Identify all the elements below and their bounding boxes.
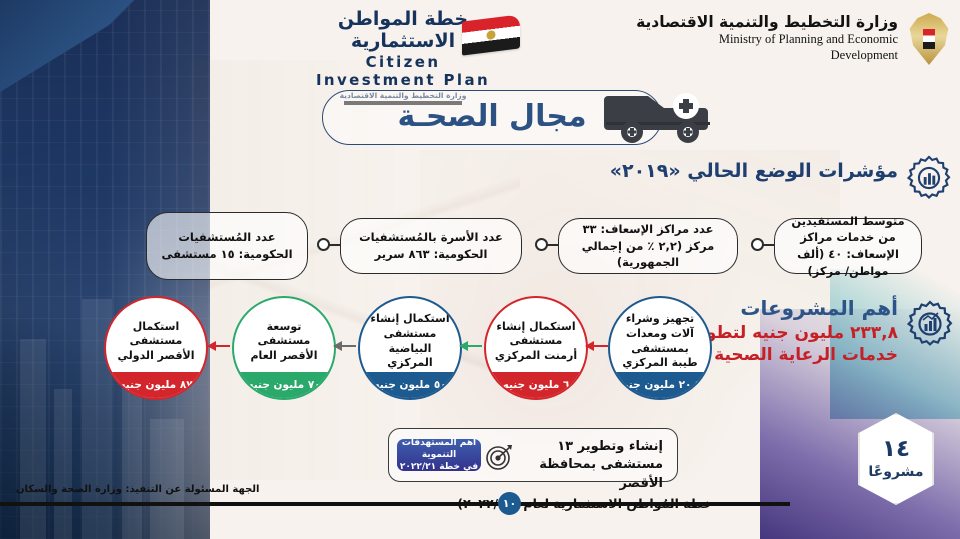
project-label: توسعة مستشفى الأقصر العام — [234, 320, 334, 364]
footer-plan-text: خطة المُواطن الاستثمارية لعام (٢٠٢٢/٢١) — [457, 496, 712, 511]
project-count-number: ١٤ — [882, 438, 910, 461]
project-amount: ٥٠ مليون جنيه — [360, 372, 460, 398]
projects-gear-icon — [906, 300, 954, 348]
infographic-page: خطة المواطن الاستثمارية Citizen Investme… — [0, 0, 960, 539]
targets-badge: أهم المستهدفات التنموية في خطة ٢٠٢٢/٢١ — [397, 439, 481, 471]
connector-dot-2 — [535, 238, 548, 251]
indicator-box-hospitals: عدد المُستشفيات الحكومية: ١٥ مستشفى — [146, 212, 308, 280]
ministry-name-english-line2: Development — [578, 48, 898, 64]
target-icon — [485, 443, 513, 471]
ministry-logo: وزارة التخطيط والتنمية الاقتصادية Minist… — [578, 12, 898, 63]
project-circle-taiba-equipment: تجهيز وشراء آلات ومعدات بمستشفى طيبة الم… — [608, 296, 712, 400]
project-label: استكمال إنشاء مستشفى البياضية المركزي — [360, 312, 460, 370]
indicators-row: عدد المُستشفيات الحكومية: ١٥ مستشفى عدد … — [0, 206, 960, 290]
target-text: إنشاء وتطوير ١٣ مستشفى بمحافظة الأقصر — [495, 438, 663, 493]
indicator-box-beds: عدد الأسرة بالمُستشفيات الحكومية: ٨٦٣ سر… — [340, 218, 522, 274]
project-circle-armant: استكمال إنشاء مستشفى أرمنت المركزي ٦ ملي… — [484, 296, 588, 400]
ministry-name-arabic: وزارة التخطيط والتنمية الاقتصادية — [578, 12, 898, 32]
project-label: استكمال مستشفى الأقصر الدولي — [106, 320, 206, 364]
flow-arrow-1 — [586, 345, 608, 347]
indicator-box-ambulance-centers: عدد مراكز الإسعاف: ٣٣ مركز (٢,٢ ٪ من إجم… — [558, 218, 738, 274]
indicators-section-title: مؤشرات الوضع الحالي «٢٠١٩» — [610, 160, 898, 182]
footer-responsible-entity: الجهة المسئولة عن التنفيذ: وزارة الصحة و… — [16, 484, 259, 495]
targets-badge-line2: في خطة ٢٠٢٢/٢١ — [400, 461, 478, 473]
flow-arrow-2 — [460, 345, 482, 347]
projects-section-title-block: أهم المشروعات ٢٣٣,٨ مليون جنيه لتطوير خد… — [680, 296, 898, 367]
flow-arrow-3 — [334, 345, 356, 347]
development-targets-box: إنشاء وتطوير ١٣ مستشفى بمحافظة الأقصر أه… — [388, 428, 678, 482]
connector-dot-1 — [751, 238, 764, 251]
egypt-flag-icon — [462, 14, 520, 55]
ministry-name-english-line1: Ministry of Planning and Economic — [578, 32, 898, 48]
page-header: خطة المواطن الاستثمارية Citizen Investme… — [0, 0, 960, 80]
chart-gear-icon — [906, 155, 952, 201]
ambulance-icon — [600, 82, 712, 144]
eagle-emblem-icon — [908, 13, 950, 65]
page-number-badge: ١٠ — [498, 492, 521, 515]
project-label: استكمال إنشاء مستشفى أرمنت المركزي — [486, 320, 586, 364]
plan-logo-english: Citizen Investment Plan — [308, 53, 498, 89]
indicator-box-beneficiaries: متوسط المستفيدين من خدمات مراكز الإسعاف:… — [774, 218, 922, 274]
project-amount: ٦ مليون جنيه — [486, 372, 586, 398]
project-amount: ٨٧ مليون جنيه — [106, 372, 206, 398]
projects-section-title: أهم المشروعات — [680, 296, 898, 320]
project-circle-luxor-international: استكمال مستشفى الأقصر الدولي ٨٧ مليون جن… — [104, 296, 208, 400]
project-label: تجهيز وشراء آلات ومعدات بمستشفى طيبة الم… — [610, 312, 710, 370]
project-count-unit: مشروعًا — [868, 464, 923, 480]
flow-arrow-4 — [208, 345, 230, 347]
connector-dot-3 — [317, 238, 330, 251]
project-circle-bayadiya: استكمال إنشاء مستشفى البياضية المركزي ٥٠… — [358, 296, 462, 400]
targets-badge-line1: أهم المستهدفات التنموية — [397, 437, 481, 461]
project-circle-luxor-general: توسعة مستشفى الأقصر العام ٧٠ مليون جنيه — [232, 296, 336, 400]
projects-section-subtitle: ٢٣٣,٨ مليون جنيه لتطوير خدمات الرعاية ال… — [680, 322, 898, 367]
project-amount: ٧٠ مليون جنيه — [234, 372, 334, 398]
project-amount: ٢٠,٩ مليون جنيه — [610, 372, 710, 398]
